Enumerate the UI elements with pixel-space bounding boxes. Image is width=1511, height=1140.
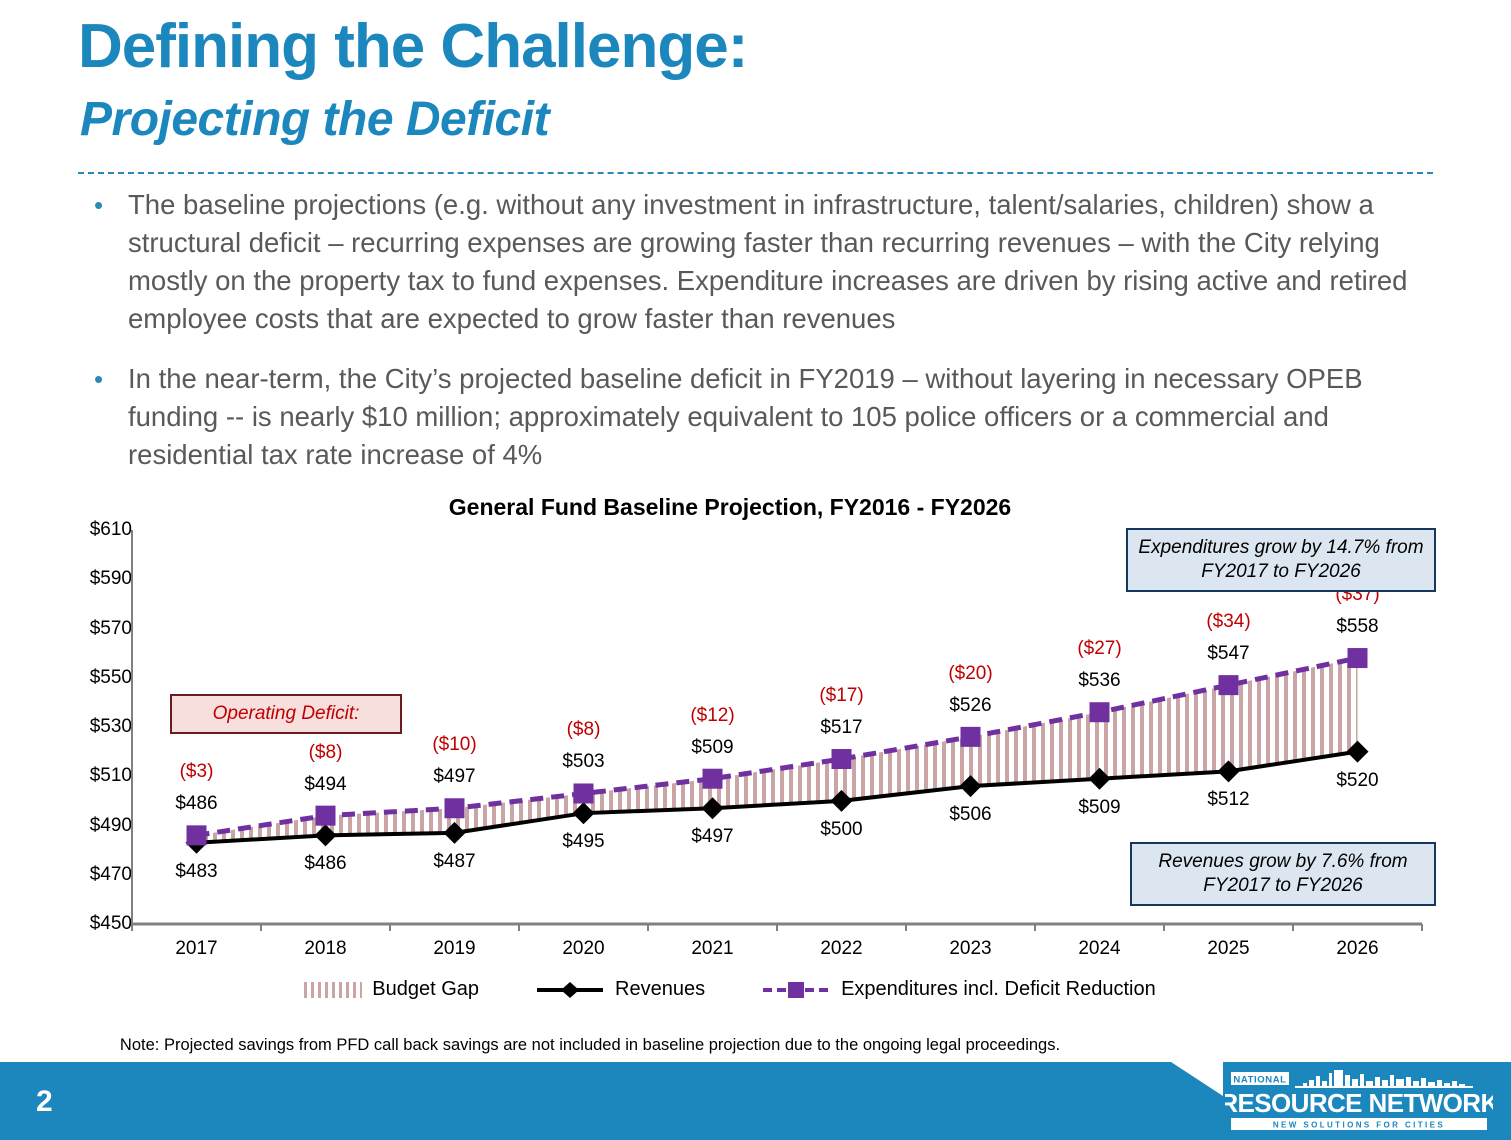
footer-notch (1171, 1062, 1223, 1096)
logo-line-2: RESOURCE NETWORK (1225, 1088, 1493, 1118)
y-axis-tick: $570 (58, 618, 132, 640)
list-item: • In the near-term, the City’s projected… (86, 360, 1436, 474)
revenue-value-label: $487 (433, 851, 475, 873)
data-point-marker (316, 806, 336, 826)
revenue-value-label: $506 (949, 804, 991, 826)
list-item: • The baseline projections (e.g. without… (86, 186, 1436, 338)
y-axis-tick: $530 (58, 716, 132, 738)
data-point-marker (1348, 648, 1368, 668)
chart-title: General Fund Baseline Projection, FY2016… (0, 494, 1460, 521)
legend-item-budget-gap: Budget Gap (304, 978, 479, 1001)
legend-item-revenues: Revenues (535, 978, 705, 1001)
page-subtitle: Projecting the Deficit (80, 96, 549, 144)
chart: Millions $610$590$570$550$530$510$490$47… (0, 530, 1460, 1020)
x-axis-label: 2026 (1336, 938, 1378, 960)
x-axis-label: 2023 (949, 938, 991, 960)
budget-gap-label: ($3) (180, 761, 214, 783)
budget-gap-label: ($8) (567, 719, 601, 741)
revenue-value-label: $497 (691, 826, 733, 848)
legend-item-expenditures: Expenditures incl. Deficit Reduction (761, 978, 1156, 1001)
y-axis-tick: $510 (58, 765, 132, 787)
x-axis-label: 2017 (175, 938, 217, 960)
budget-gap-label: ($12) (690, 705, 734, 727)
x-axis-label: 2020 (562, 938, 604, 960)
bullet-text: The baseline projections (e.g. without a… (128, 186, 1436, 338)
chart-note: Note: Projected savings from PFD call ba… (0, 1036, 1180, 1055)
y-axis-ticks: $610$590$570$550$530$510$490$470$450 (52, 530, 132, 1020)
revenue-value-label: $486 (304, 853, 346, 875)
expenditure-value-label: $526 (949, 695, 991, 717)
expenditure-value-label: $494 (304, 774, 346, 796)
expenditure-value-label: $547 (1207, 643, 1249, 665)
x-axis-label: 2018 (304, 938, 346, 960)
x-axis-label: 2021 (691, 938, 733, 960)
data-point-marker (1090, 702, 1110, 722)
resource-network-logo: NATIONAL RESOURCE NETWORK (1225, 1068, 1493, 1134)
data-point-marker (703, 769, 723, 789)
x-axis-label: 2025 (1207, 938, 1249, 960)
revenue-value-label: $509 (1078, 797, 1120, 819)
bullet-dot-icon: • (86, 186, 128, 338)
data-point-marker (574, 783, 594, 803)
chart-legend: Budget Gap Revenues Expenditures incl. D… (0, 978, 1460, 1001)
expenditure-value-label: $509 (691, 737, 733, 759)
page-title: Defining the Challenge: (78, 16, 747, 78)
budget-gap-swatch-icon (304, 981, 362, 999)
expenditure-value-label: $503 (562, 751, 604, 773)
data-point-marker (832, 749, 852, 769)
budget-gap-label: ($10) (432, 734, 476, 756)
expenditure-value-label: $486 (175, 793, 217, 815)
legend-label: Budget Gap (372, 978, 479, 1001)
x-axis-label: 2022 (820, 938, 862, 960)
revenue-value-label: $512 (1207, 789, 1249, 811)
data-point-marker (961, 727, 981, 747)
logo-line-1: NATIONAL (1233, 1075, 1286, 1086)
legend-label: Expenditures incl. Deficit Reduction (841, 978, 1156, 1001)
page-number: 2 (36, 1085, 53, 1119)
operating-deficit-box: Operating Deficit: (170, 694, 402, 734)
revenue-value-label: $495 (562, 831, 604, 853)
y-axis-tick: $590 (58, 568, 132, 590)
revenue-value-label: $483 (175, 861, 217, 883)
logo-line-3: NEW SOLUTIONS FOR CITIES (1273, 1121, 1445, 1130)
revenue-value-label: $500 (820, 819, 862, 841)
x-axis-label: 2024 (1078, 938, 1120, 960)
revenues-line-icon (535, 980, 605, 1000)
budget-gap-label: ($17) (819, 685, 863, 707)
bullet-dot-icon: • (86, 360, 128, 474)
slide: Defining the Challenge: Projecting the D… (0, 0, 1511, 1140)
callout-revenues: Revenues grow by 7.6% from FY2017 to FY2… (1130, 842, 1436, 906)
y-axis-tick: $550 (58, 667, 132, 689)
y-axis-tick: $470 (58, 864, 132, 886)
expenditure-value-label: $558 (1336, 616, 1378, 638)
expenditure-value-label: $497 (433, 766, 475, 788)
budget-gap-label: ($20) (948, 663, 992, 685)
revenue-value-label: $520 (1336, 770, 1378, 792)
expenditure-value-label: $536 (1078, 670, 1120, 692)
legend-label: Revenues (615, 978, 705, 1001)
data-point-marker (187, 825, 207, 845)
data-point-marker (1219, 675, 1239, 695)
callout-expenditures: Expenditures grow by 14.7% from FY2017 t… (1126, 528, 1436, 592)
budget-gap-label: ($8) (309, 742, 343, 764)
y-axis-tick: $610 (58, 519, 132, 541)
expenditures-line-icon (761, 979, 831, 1001)
bullet-text: In the near-term, the City’s projected b… (128, 360, 1436, 474)
title-divider (78, 172, 1433, 174)
budget-gap-label: ($34) (1206, 611, 1250, 633)
data-point-marker (445, 798, 465, 818)
y-axis-tick: $490 (58, 815, 132, 837)
y-axis-tick: $450 (58, 913, 132, 935)
bullet-list: • The baseline projections (e.g. without… (86, 186, 1436, 496)
x-axis-label: 2019 (433, 938, 475, 960)
expenditure-value-label: $517 (820, 717, 862, 739)
budget-gap-label: ($27) (1077, 638, 1121, 660)
